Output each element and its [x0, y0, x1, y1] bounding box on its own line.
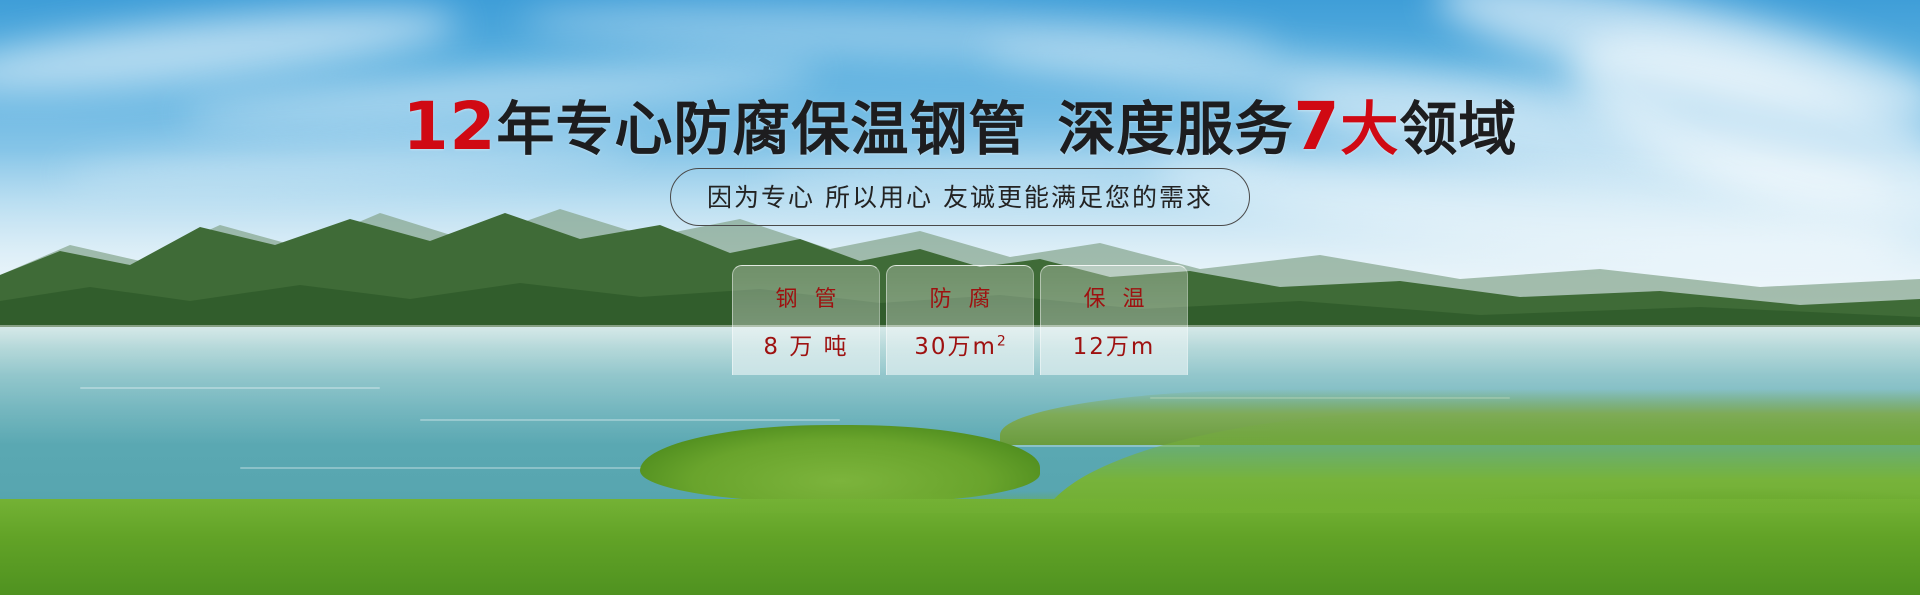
stat-card-steel-pipe[interactable]: 钢 管 8 万 吨 [732, 265, 880, 375]
stat-card-group: 钢 管 8 万 吨 防 腐 30万m2 保 温 12万m [0, 265, 1920, 375]
stat-value-text: 30万m [914, 334, 997, 360]
stat-card-label: 防 腐 [925, 281, 996, 313]
stat-card-insulation[interactable]: 保 温 12万m [1040, 265, 1188, 375]
stat-value-text: 8 万 吨 [763, 334, 848, 360]
stat-card-label: 保 温 [1079, 281, 1150, 313]
banner-headline: 12年专心防腐保温钢管深度服务7大领域 [0, 82, 1920, 166]
stat-card-value: 12万m [1073, 327, 1156, 361]
headline-segment-two: 深度服务 [1057, 95, 1293, 163]
stat-card-value: 30万m2 [914, 327, 1006, 361]
promo-banner: 12年专心防腐保温钢管深度服务7大领域 因为专心 所以用心 友诚更能满足您的需求… [0, 0, 1920, 595]
subtitle-pill: 因为专心 所以用心 友诚更能满足您的需求 [670, 168, 1250, 226]
stat-card-anticorrosion[interactable]: 防 腐 30万m2 [886, 265, 1034, 375]
headline-highlight-word: 大 [1340, 95, 1399, 163]
stat-card-label: 钢 管 [771, 281, 842, 313]
subtitle-container: 因为专心 所以用心 友诚更能满足您的需求 [0, 168, 1920, 226]
water-ripple [80, 387, 380, 389]
headline-years-number: 12 [403, 88, 497, 165]
headline-segment-three: 领域 [1399, 95, 1517, 163]
headline-segment-one: 年专心防腐保温钢管 [496, 95, 1027, 163]
stat-value-text: 12万m [1073, 334, 1156, 360]
headline-fields-number: 7 [1293, 88, 1340, 165]
water-ripple [420, 419, 840, 421]
stat-card-value: 8 万 吨 [763, 327, 848, 361]
stat-value-superscript: 2 [997, 333, 1006, 349]
foreground-grass [0, 499, 1920, 595]
